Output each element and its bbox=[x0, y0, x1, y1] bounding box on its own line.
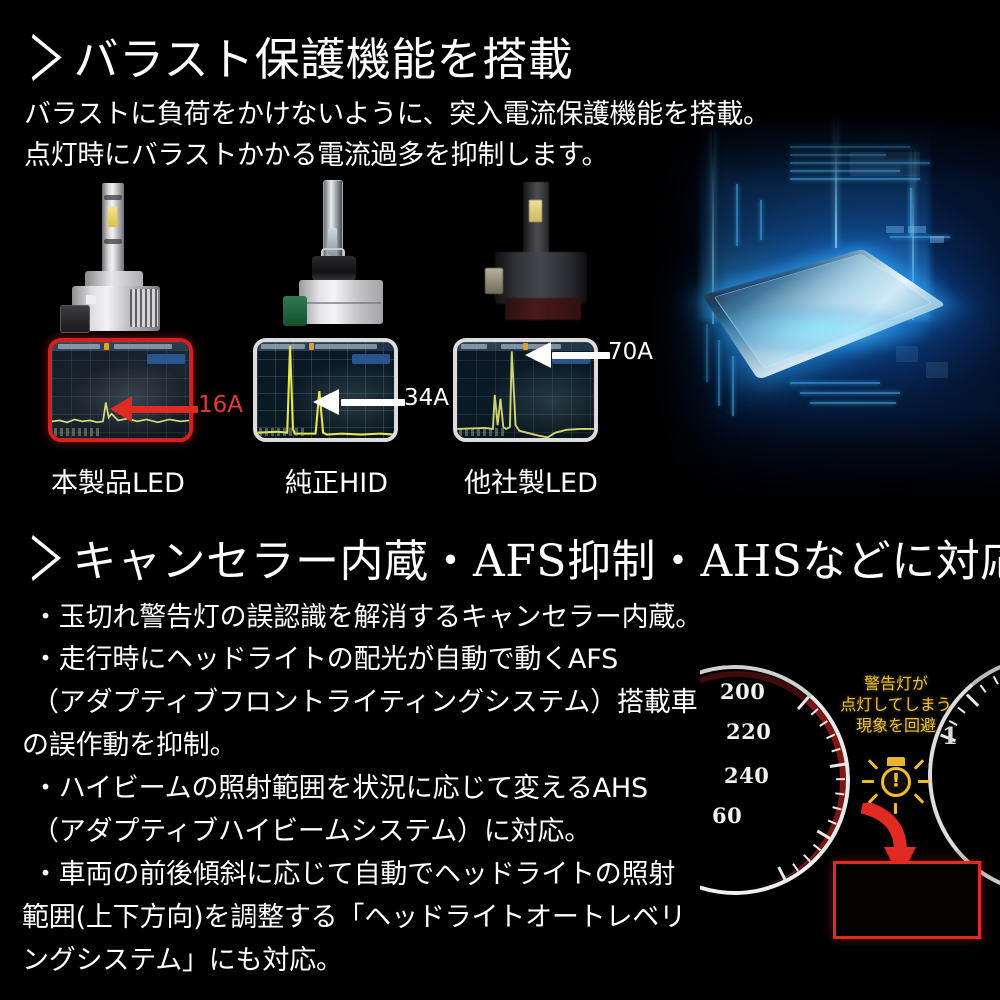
body-text-line: ・車両の前後傾斜に応じて自動でヘッドライトの照射 bbox=[32, 852, 675, 891]
body-text-line: 範囲(上下方向)を調整する「ヘッドライトオートレベリ bbox=[22, 895, 686, 934]
current-value-2: 70A bbox=[608, 339, 653, 365]
annotation-arrow-1 bbox=[313, 389, 405, 415]
gauge-tick-minor bbox=[835, 792, 844, 795]
body-text-line: ・走行時にヘッドライトの配光が自動で動くAFS bbox=[32, 637, 618, 676]
gauge-tick-minor bbox=[812, 844, 820, 851]
gauge-tick-major bbox=[829, 763, 845, 768]
page-title-ballast: ＞バラスト保護機能を搭載 bbox=[24, 23, 573, 88]
chevron-right-icon: ＞ bbox=[27, 10, 66, 98]
scope-status-strip bbox=[459, 428, 505, 436]
gauge-tick-minor bbox=[819, 720, 828, 727]
gauge-tick-minor bbox=[827, 820, 836, 825]
bulb-icon-ray bbox=[914, 759, 925, 770]
bulb-icon-ray bbox=[862, 780, 874, 783]
body-text-line: ・玉切れ警告灯の誤認識を解消するキャンセラー内蔵。 bbox=[32, 595, 702, 634]
body-text-line: （アダプティブハイビームシステム）に対応。 bbox=[32, 809, 591, 848]
bulb-seam bbox=[301, 302, 381, 304]
product-caption-2: 他社製LED bbox=[464, 461, 598, 500]
scope-status-strip bbox=[54, 428, 100, 436]
bulb-stem-notch bbox=[104, 195, 122, 200]
hid-bulb bbox=[283, 180, 393, 335]
gauge-tick-major bbox=[777, 866, 787, 882]
bulb-base bbox=[505, 298, 581, 320]
body-text-line: バラストに負荷をかけないように、突入電流保護機能を搭載。 bbox=[24, 92, 770, 131]
product-caption-1: 純正HID bbox=[285, 461, 388, 500]
product-caption-0: 本製品LED bbox=[51, 461, 185, 500]
warning-lamp-box: ! bbox=[833, 861, 981, 939]
gauge-tick-minor bbox=[832, 806, 841, 810]
gauge-number-220: 220 bbox=[726, 719, 771, 744]
arrow-head bbox=[525, 342, 551, 368]
circuit-board-chip-photo bbox=[640, 110, 1000, 510]
gauge-number-240: 240 bbox=[724, 763, 769, 788]
body-text-line: の誤作動を抑制。 bbox=[22, 723, 236, 762]
warning-callout-line: 点灯してしまう bbox=[828, 694, 964, 715]
warning-callout-text: 警告灯が 点灯してしまう 現象を回避 bbox=[828, 673, 964, 736]
bulb-body bbox=[495, 252, 587, 304]
photo-vignette bbox=[640, 110, 1000, 510]
gauge-tick-major bbox=[965, 693, 978, 706]
body-text-line: （アダプティブフロントライティングシステム）搭載車 bbox=[32, 680, 697, 719]
page-title-text: バラスト保護機能を搭載 bbox=[74, 33, 574, 86]
led-emitter bbox=[108, 207, 117, 227]
oscilloscope-card-0 bbox=[48, 338, 193, 442]
annotation-arrow-2 bbox=[525, 342, 610, 368]
current-value-0: 16A bbox=[198, 392, 243, 418]
warning-callout-line: 現象を回避 bbox=[828, 715, 964, 736]
bulb-label bbox=[86, 295, 96, 304]
bulb-icon-exclamation: ! bbox=[892, 772, 901, 791]
chevron-right-icon: ＞ bbox=[27, 512, 65, 598]
scope-waveform bbox=[52, 342, 189, 440]
arrow-shaft bbox=[341, 399, 405, 406]
scope-status-strip bbox=[259, 428, 305, 436]
gauge-tick-major bbox=[816, 830, 831, 841]
led-silver-bulb bbox=[60, 183, 180, 333]
warning-callout-line: 警告灯が bbox=[828, 673, 964, 694]
bulb-stem-notch bbox=[104, 239, 122, 244]
led-dark-bulb bbox=[485, 182, 595, 334]
body-text-line: 点灯時にバラストかかる電流過多を抑制します。 bbox=[24, 133, 608, 172]
bulb-icon-cap bbox=[887, 757, 905, 766]
bulb-connector bbox=[485, 268, 503, 294]
page-title-canceller: ＞キャンセラー内蔵・AFS抑制・AHSなどに対応 bbox=[24, 525, 1000, 589]
gauge-tick-major bbox=[796, 696, 809, 710]
bulb-connector bbox=[283, 296, 307, 326]
product-feature-page: ＞バラスト保護機能を搭載 バラストに負荷をかけないように、突入電流保護機能を搭載… bbox=[0, 0, 1000, 1000]
arrow-head bbox=[313, 389, 339, 415]
annotation-arrow-0 bbox=[110, 396, 198, 422]
hid-black-cap bbox=[312, 256, 356, 282]
body-text-line: ・ハイビームの照射範囲を状況に応じて変えるAHS bbox=[32, 766, 648, 805]
current-value-1: 34A bbox=[404, 385, 449, 411]
bulb-icon-ray bbox=[868, 759, 879, 770]
bulb-connector bbox=[60, 305, 90, 333]
body-text-line: ングシステム」にも対応。 bbox=[22, 938, 343, 977]
led-emitter bbox=[529, 200, 542, 222]
gauge-tick-minor bbox=[831, 748, 840, 753]
gauge-tick-minor bbox=[979, 684, 986, 692]
gauge-tick-minor bbox=[810, 708, 818, 715]
dashboard-cluster-photo: 200 220 240 60 1 警告灯が 点灯してしまう 現象を回避 ! bbox=[700, 645, 1000, 955]
gauge-number-260-clipped: 60 bbox=[712, 803, 746, 828]
gauge-tick-minor bbox=[992, 676, 998, 685]
bulb-heatsink-fins bbox=[130, 289, 158, 327]
arrow-head bbox=[110, 396, 132, 422]
gauge-number-200: 200 bbox=[720, 679, 765, 704]
page-title-text: キャンセラー内蔵・AFS抑制・AHSなどに対応 bbox=[73, 536, 1000, 587]
gauge-tick-minor bbox=[792, 863, 799, 872]
gauge-tick-minor bbox=[803, 854, 811, 862]
bulb-icon-ray bbox=[918, 780, 930, 783]
gauge-tick-minor bbox=[836, 778, 845, 780]
section-ballast-protection: ＞バラスト保護機能を搭載 バラストに負荷をかけないように、突入電流保護機能を搭載… bbox=[0, 0, 1000, 510]
arrow-shaft bbox=[130, 406, 198, 413]
arrow-shaft bbox=[552, 352, 610, 359]
